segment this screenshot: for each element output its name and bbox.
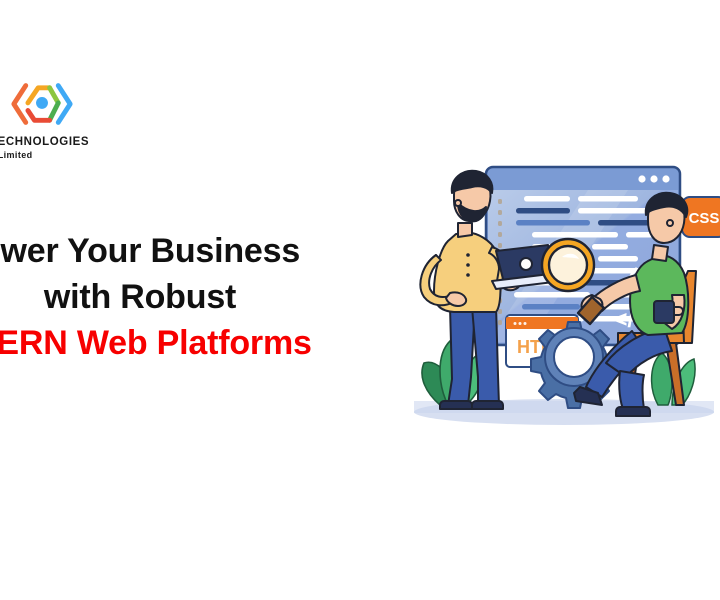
headline-line-3-accent: MERN Web Platforms [0, 320, 340, 366]
css-badge-label: CSS [689, 210, 720, 227]
css-badge: CSS [682, 197, 720, 237]
company-suffix: Private Limited [0, 150, 162, 160]
headline-line-1: ower Your Business [0, 228, 340, 274]
hexagon-cluster-logo-icon [9, 78, 75, 130]
hero-headline: ower Your Business with Robust MERN Web … [0, 228, 340, 366]
brand-logo[interactable]: TRY TECHNOLOGIES Private Limited [0, 78, 162, 160]
hero-banner: TRY TECHNOLOGIES Private Limited ower Yo… [0, 0, 720, 600]
headline-line-2: with Robust [0, 274, 340, 320]
window-dots [638, 175, 669, 182]
web-development-team-illustration: </> CSS HTML [396, 155, 720, 445]
hero-illustration: </> CSS HTML [396, 155, 720, 445]
company-name: TRY TECHNOLOGIES [0, 136, 162, 148]
